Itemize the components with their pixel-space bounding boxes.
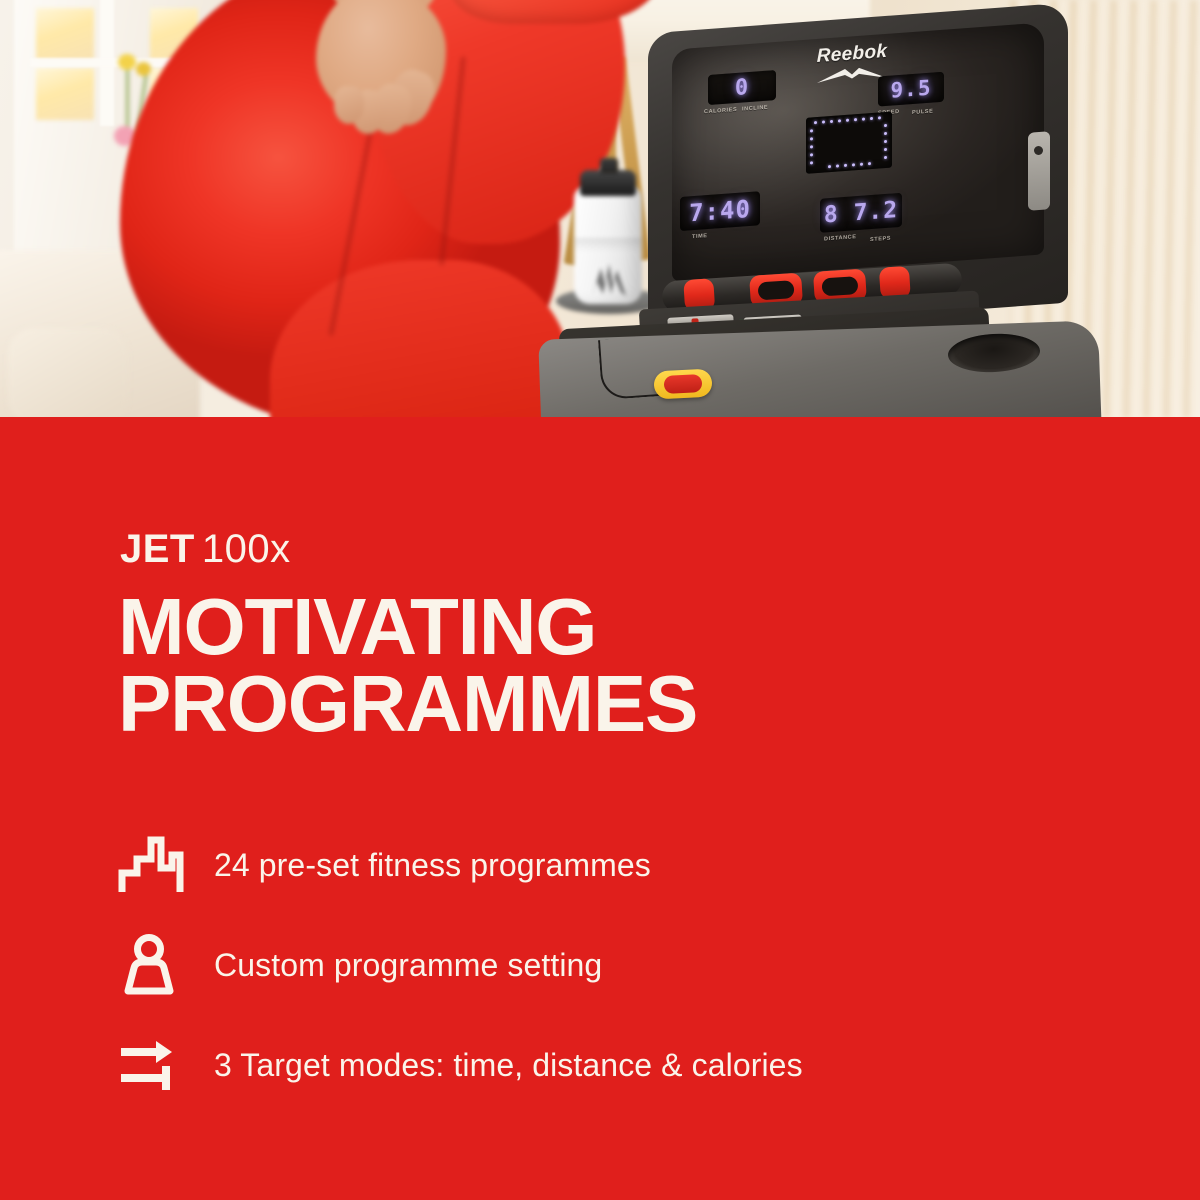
list-item: 24 pre-set fitness programmes <box>118 815 1078 915</box>
door-glass-pane <box>36 8 94 60</box>
calories-incline-display: 0 <box>708 70 776 105</box>
water-bottle-logo <box>588 262 630 298</box>
target-mode-icon <box>118 1029 214 1101</box>
feature-label: 24 pre-set fitness programmes <box>214 846 651 884</box>
safety-key-cord <box>598 336 664 400</box>
list-item: 3 Target modes: time, distance & calorie… <box>118 1015 1078 1115</box>
dot-matrix-track-display <box>806 112 892 174</box>
hand <box>298 0 464 154</box>
time-display: 7:40 <box>680 191 760 231</box>
headline-line-1: MOTIVATING <box>118 589 697 666</box>
handlebar-grip-opening <box>758 280 795 300</box>
console-side-port-icon <box>1034 146 1043 155</box>
feature-panel: JET 100x MOTIVATING PROGRAMMES 24 pre-se… <box>0 417 1200 1200</box>
distance-steps-display: 8 7.2 <box>820 193 902 233</box>
product-lifestyle-photo: Reebok 0 CALORIES INCLINE 9.5 SPEED PULS… <box>0 0 1200 418</box>
safety-key-clip-inner <box>664 374 703 394</box>
model-name: JET 100x <box>120 529 291 569</box>
feature-label: Custom programme setting <box>214 946 602 984</box>
steps-label: STEPS <box>870 236 891 244</box>
distance-label: DISTANCE <box>824 234 857 242</box>
user-profile-icon <box>118 929 214 1001</box>
model-prefix: JET <box>120 529 195 569</box>
headline-line-2: PROGRAMMES <box>118 666 697 743</box>
speed-pulse-display: 9.5 <box>878 72 944 107</box>
console-side-panel <box>1028 131 1050 211</box>
sofa-cushion <box>8 328 128 418</box>
interval-profile-icon <box>118 829 214 901</box>
marketing-banner: Reebok 0 CALORIES INCLINE 9.5 SPEED PULS… <box>0 0 1200 1200</box>
model-number: 100x <box>202 529 291 569</box>
door-glass-pane <box>36 68 94 120</box>
treadmill-console-screen: Reebok 0 CALORIES INCLINE 9.5 SPEED PULS… <box>672 22 1044 281</box>
water-bottle-nozzle <box>600 158 618 174</box>
water-bottle-waist <box>574 238 642 252</box>
person-in-red-leggings <box>120 0 590 418</box>
page-title: MOTIVATING PROGRAMMES <box>118 589 697 743</box>
time-label: TIME <box>692 233 708 240</box>
handlebar-grip-opening <box>821 276 858 296</box>
feature-label: 3 Target modes: time, distance & calorie… <box>214 1046 803 1084</box>
list-item: Custom programme setting <box>118 915 1078 1015</box>
feature-list: 24 pre-set fitness programmes Custom pro… <box>118 815 1078 1115</box>
